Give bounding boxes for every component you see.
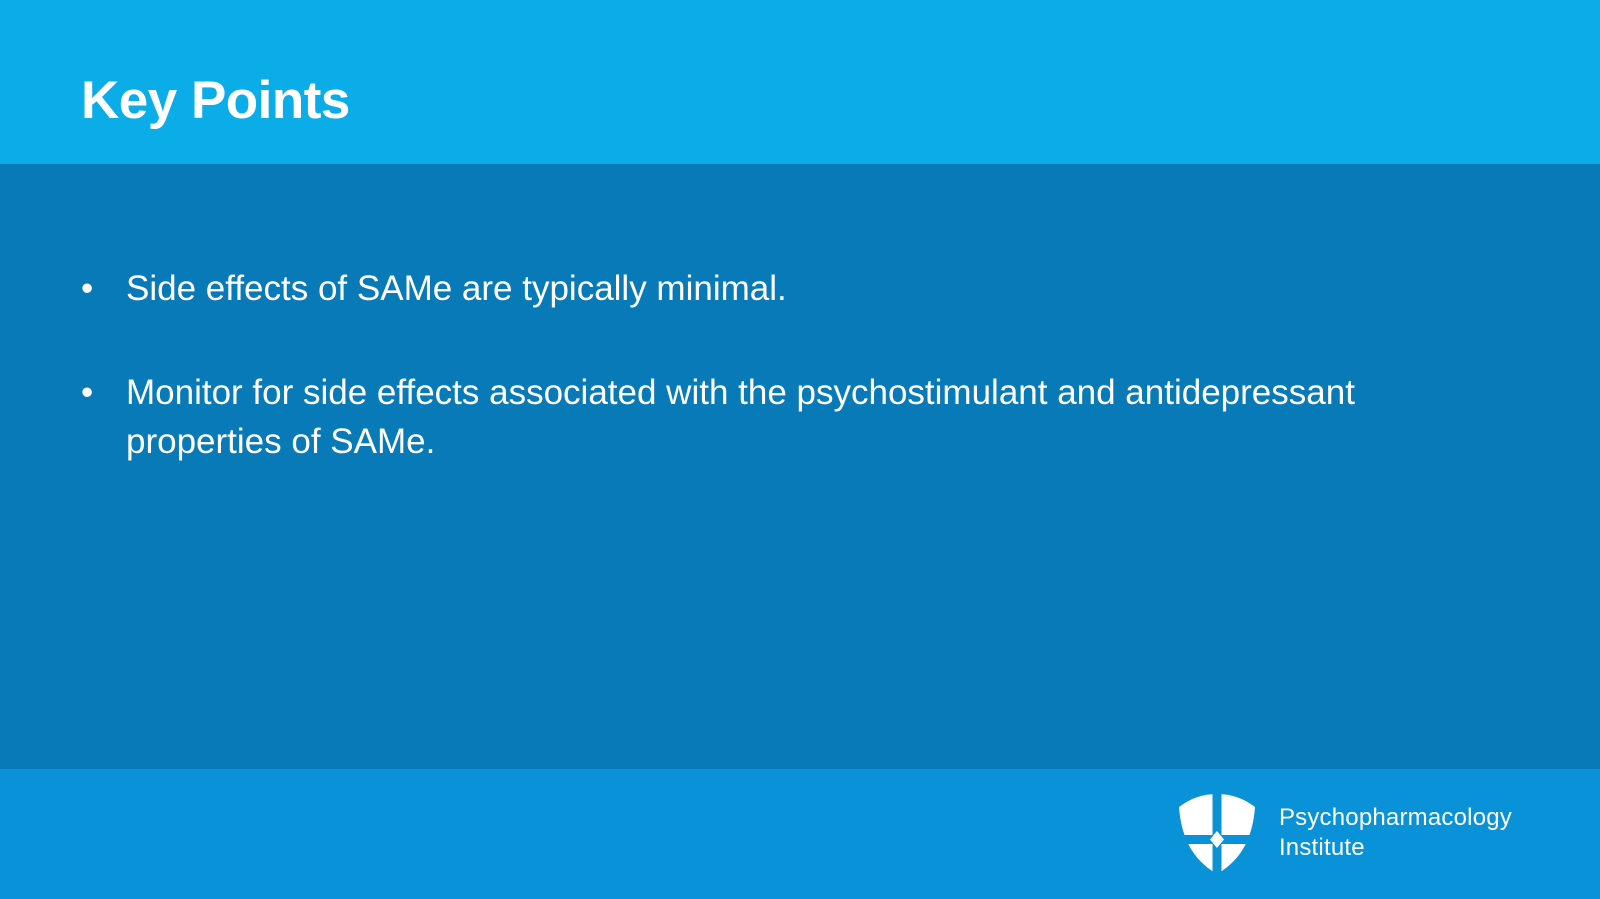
bullet-text: Monitor for side effects associated with… xyxy=(126,368,1398,466)
brand-logo: Psychopharmacology Institute xyxy=(1177,773,1512,893)
shield-cross-icon xyxy=(1177,791,1257,876)
brand-name-line1: Psychopharmacology xyxy=(1279,803,1512,833)
brand-name-line2: Institute xyxy=(1279,833,1512,863)
list-item: • Monitor for side effects associated wi… xyxy=(78,368,1398,466)
brand-name: Psychopharmacology Institute xyxy=(1279,803,1512,863)
bullet-point-icon: • xyxy=(81,264,101,313)
header-band: Key Points xyxy=(0,0,1600,164)
slide-body: • Side effects of SAMe are typically min… xyxy=(0,164,1600,769)
bullet-point-icon: • xyxy=(81,368,101,417)
slide: Key Points • Side effects of SAMe are ty… xyxy=(0,0,1600,899)
list-item: • Side effects of SAMe are typically min… xyxy=(78,264,1398,313)
bullet-list: • Side effects of SAMe are typically min… xyxy=(78,264,1398,466)
footer-band: Psychopharmacology Institute xyxy=(0,769,1600,899)
page-title: Key Points xyxy=(81,70,350,132)
bullet-text: Side effects of SAMe are typically minim… xyxy=(126,264,1398,313)
